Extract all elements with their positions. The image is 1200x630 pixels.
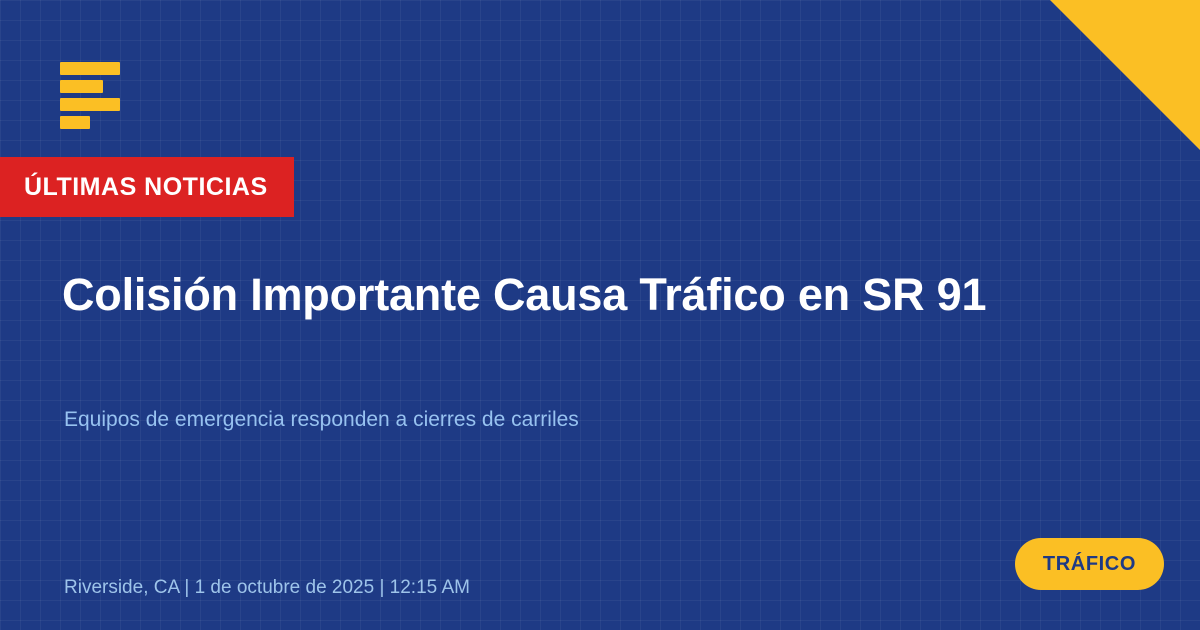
breaking-news-label: ÚLTIMAS NOTICIAS	[24, 175, 268, 200]
logo-bar-4	[60, 116, 90, 129]
status-badge-category[interactable]: TRÁFICO	[1015, 538, 1164, 590]
breaking-news-badge: ÚLTIMAS NOTICIAS	[0, 157, 294, 217]
stacked-bars-logo[interactable]	[60, 62, 120, 129]
breaking-news-card: ÚLTIMAS NOTICIAS Colisión Importante Cau…	[0, 0, 1200, 630]
logo-bar-1	[60, 62, 120, 75]
category-label: TRÁFICO	[1043, 554, 1136, 574]
logo-bar-2	[60, 80, 103, 93]
article-meta: Riverside, CA | 1 de octubre de 2025 | 1…	[64, 577, 470, 600]
yellow-corner-wedge-decoration	[1050, 0, 1200, 150]
logo-bar-3	[60, 98, 120, 111]
page-title: Colisión Importante Causa Tráfico en SR …	[62, 266, 1200, 324]
article-subtitle: Equipos de emergencia responden a cierre…	[64, 406, 1114, 433]
